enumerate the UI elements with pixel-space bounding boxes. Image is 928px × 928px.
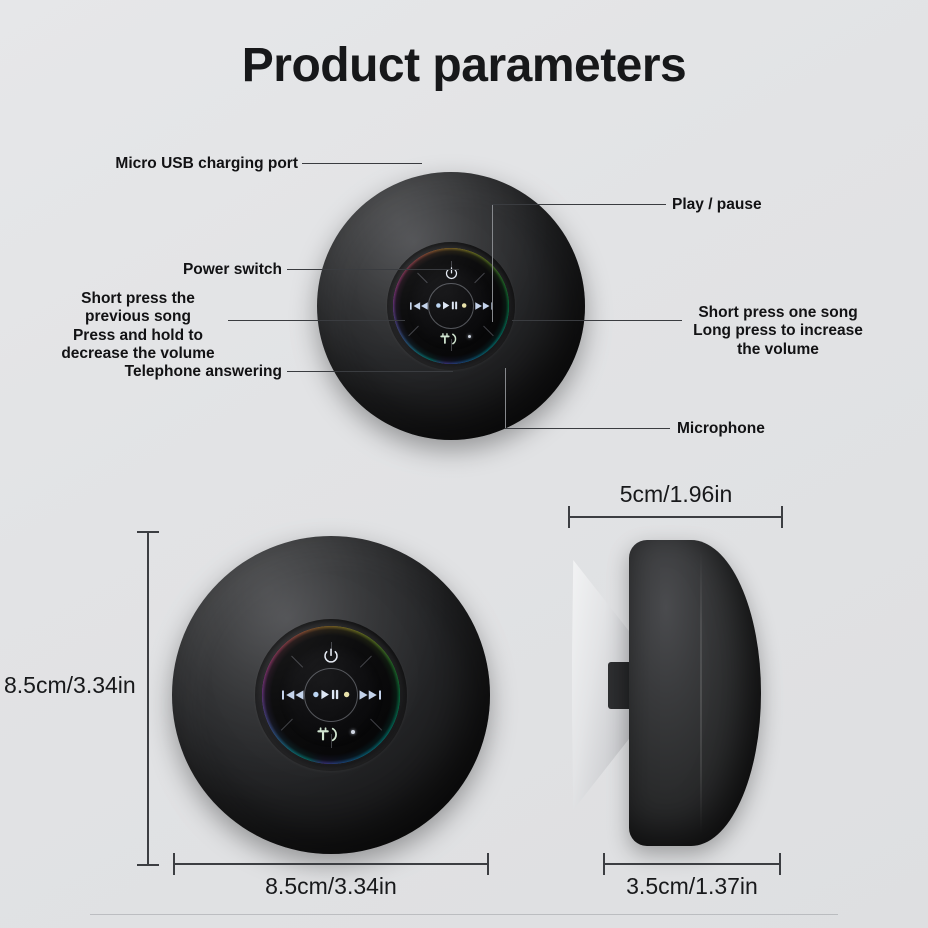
- callout-play-pause: Play / pause: [672, 196, 872, 214]
- next-track-icon[interactable]: [357, 684, 381, 706]
- leader-mic-vertical: [505, 368, 506, 429]
- dimension-line-front-width: [173, 863, 489, 865]
- microphone-pinhole-icon: [351, 730, 355, 734]
- dimension-cap: [137, 864, 159, 866]
- leader-micro-usb: [302, 163, 422, 164]
- dimension-cap: [173, 853, 175, 875]
- telephone-answer-icon[interactable]: [439, 330, 463, 348]
- play-pause-icon[interactable]: [435, 298, 467, 312]
- leader-play-vertical: [492, 204, 493, 322]
- previous-track-icon[interactable]: [281, 684, 305, 706]
- dimension-front-height: 8.5cm/3.34in: [4, 672, 136, 699]
- callout-power-switch: Power switch: [60, 261, 282, 279]
- power-icon[interactable]: [442, 264, 460, 282]
- callout-previous-song: Short press the previous song Press and …: [52, 290, 224, 363]
- speaker-side-view: [629, 540, 761, 846]
- callout-next-song: Short press one song Long press to incre…: [680, 304, 876, 359]
- telephone-answer-icon[interactable]: [316, 723, 344, 745]
- leader-mic-horizontal: [505, 428, 670, 429]
- speaker-front-main: [317, 172, 585, 440]
- dimension-cap: [568, 506, 570, 528]
- speaker-front-bottom: [172, 536, 490, 854]
- dimension-cap: [779, 853, 781, 875]
- infographic-canvas: Product parameters: [0, 0, 928, 928]
- dimension-line-side-width: [568, 516, 783, 518]
- dimension-cap: [781, 506, 783, 528]
- callout-microphone: Microphone: [677, 420, 857, 438]
- next-track-icon[interactable]: [473, 297, 493, 315]
- leader-play-horizontal: [492, 204, 666, 205]
- dimension-cap: [137, 531, 159, 533]
- previous-track-icon[interactable]: [409, 297, 429, 315]
- dimension-line-side-depth: [603, 863, 781, 865]
- leader-power-switch: [287, 269, 459, 270]
- dimension-line-front-height: [147, 531, 149, 865]
- control-bezel-main: [387, 242, 515, 370]
- leader-telephone: [287, 371, 453, 372]
- power-icon[interactable]: [320, 645, 342, 667]
- dimension-side-depth: 3.5cm/1.37in: [603, 873, 781, 900]
- dimension-side-width: 5cm/1.96in: [566, 481, 786, 508]
- leader-next-song: [512, 320, 682, 321]
- control-bezel-bottom: [255, 619, 407, 771]
- speaker-side-seam: [700, 552, 702, 834]
- play-pause-icon[interactable]: [312, 685, 350, 703]
- dimension-front-width: 8.5cm/3.34in: [173, 873, 489, 900]
- callout-telephone-answering: Telephone answering: [60, 363, 282, 381]
- dimension-cap: [487, 853, 489, 875]
- page-title: Product parameters: [0, 38, 928, 93]
- leader-previous-song: [228, 320, 405, 321]
- callout-micro-usb: Micro USB charging port: [60, 155, 298, 173]
- dimension-cap: [603, 853, 605, 875]
- footer-divider: [90, 914, 838, 915]
